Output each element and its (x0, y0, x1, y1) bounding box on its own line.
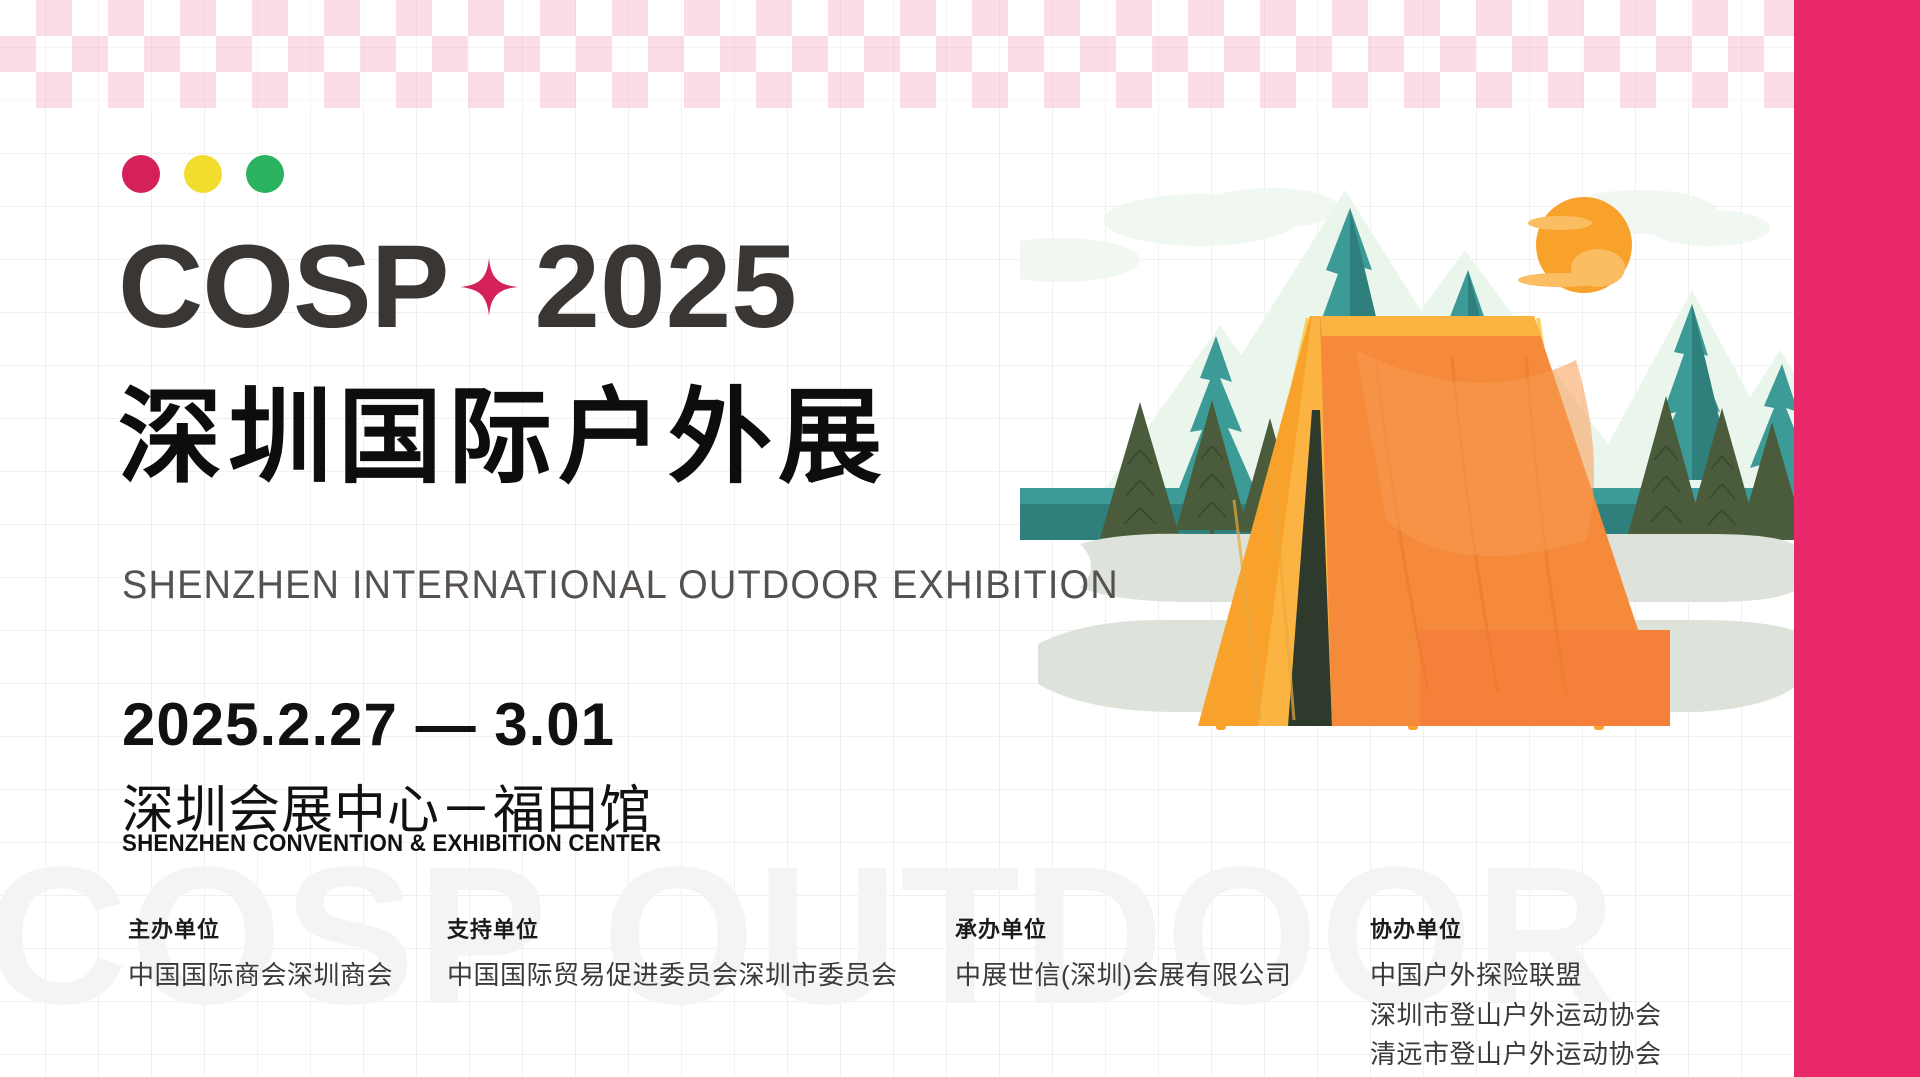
sponsor-heading: 主办单位 (128, 912, 393, 944)
event-date: 2025.2.27 — 3.01 (122, 690, 615, 759)
sponsor-column-host: 承办单位 中展世信(深圳)会展有限公司 (955, 912, 1291, 996)
sponsor-heading: 协办单位 (1370, 912, 1662, 944)
content-layer: COSP 2025 深圳国际户外展 SHENZHEN INTERNATIONAL… (0, 0, 1794, 1077)
sponsor-item: 中国国际贸易促进委员会深圳市委员会 (447, 956, 898, 996)
sponsor-column-supporter: 支持单位 中国国际贸易促进委员会深圳市委员会 (447, 912, 898, 996)
title-english: SHENZHEN INTERNATIONAL OUTDOOR EXHIBITIO… (122, 563, 1119, 608)
sponsor-item: 中国户外探险联盟 (1370, 956, 1662, 996)
sponsor-heading: 承办单位 (955, 912, 1291, 944)
brand-name: COSP (118, 228, 448, 346)
dot-yellow-icon (184, 155, 222, 193)
sponsor-item: 中国国际商会深圳商会 (128, 956, 393, 996)
venue-name-english: SHENZHEN CONVENTION & EXHIBITION CENTER (122, 830, 661, 858)
sponsor-column-organizer: 主办单位 中国国际商会深圳商会 (128, 912, 393, 996)
poster-canvas: COSP OUTDOOR (0, 0, 1920, 1077)
dot-green-icon (246, 155, 284, 193)
sponsor-heading: 支持单位 (447, 912, 898, 944)
sponsor-column-coorganizer: 协办单位 中国户外探险联盟 深圳市登山户外运动协会 清远市登山户外运动协会 (1370, 912, 1662, 1075)
title-chinese: 深圳国际户外展 (118, 382, 888, 494)
sponsor-item: 清远市登山户外运动协会 (1370, 1035, 1662, 1075)
brand-title-row: COSP 2025 (118, 228, 797, 346)
accent-bar-right (1794, 0, 1920, 1077)
dot-red-icon (122, 155, 160, 193)
color-dots-group (122, 155, 284, 193)
sponsors-section: 主办单位 中国国际商会深圳商会 支持单位 中国国际贸易促进委员会深圳市委员会 承… (0, 912, 1794, 1077)
sparkle-icon (458, 256, 520, 318)
sponsor-item: 深圳市登山户外运动协会 (1370, 996, 1662, 1036)
sponsor-item: 中展世信(深圳)会展有限公司 (955, 956, 1291, 996)
brand-year: 2025 (534, 228, 797, 346)
